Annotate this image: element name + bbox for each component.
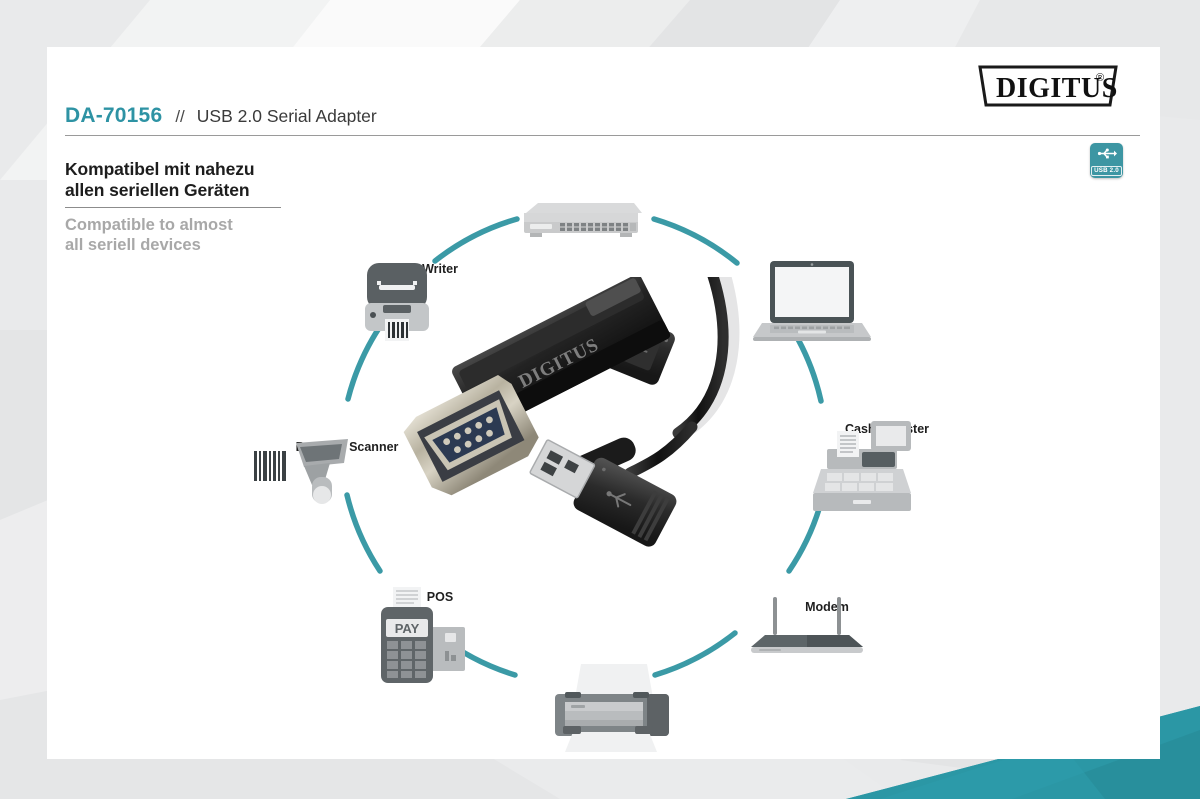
device-node-label-writer: Label Writer	[347, 259, 497, 276]
device-node-modem: Modem	[747, 597, 907, 614]
pos-screen-text: PAY	[395, 621, 420, 636]
device-node-printer: Printer	[547, 662, 707, 679]
product-photo-usb-serial-adapter: DIGITUS	[392, 277, 812, 597]
device-node-cash-register: Cash Register	[807, 419, 967, 436]
logo-registered-mark: ®	[1096, 72, 1104, 84]
device-node-laptop: Laptop	[752, 257, 892, 274]
title-separator: //	[175, 107, 184, 127]
compatibility-diagram: Switch	[47, 147, 1160, 759]
title-divider	[65, 135, 1140, 136]
device-node-switch: Switch	[516, 199, 656, 216]
product-title-row: DA-70156 // USB 2.0 Serial Adapter	[65, 104, 1140, 128]
product-card: DIGITUS ® DA-70156 // USB 2.0 Serial Ada…	[47, 47, 1160, 759]
product-model-number: DA-70156	[65, 104, 162, 128]
product-name: USB 2.0 Serial Adapter	[197, 106, 377, 127]
